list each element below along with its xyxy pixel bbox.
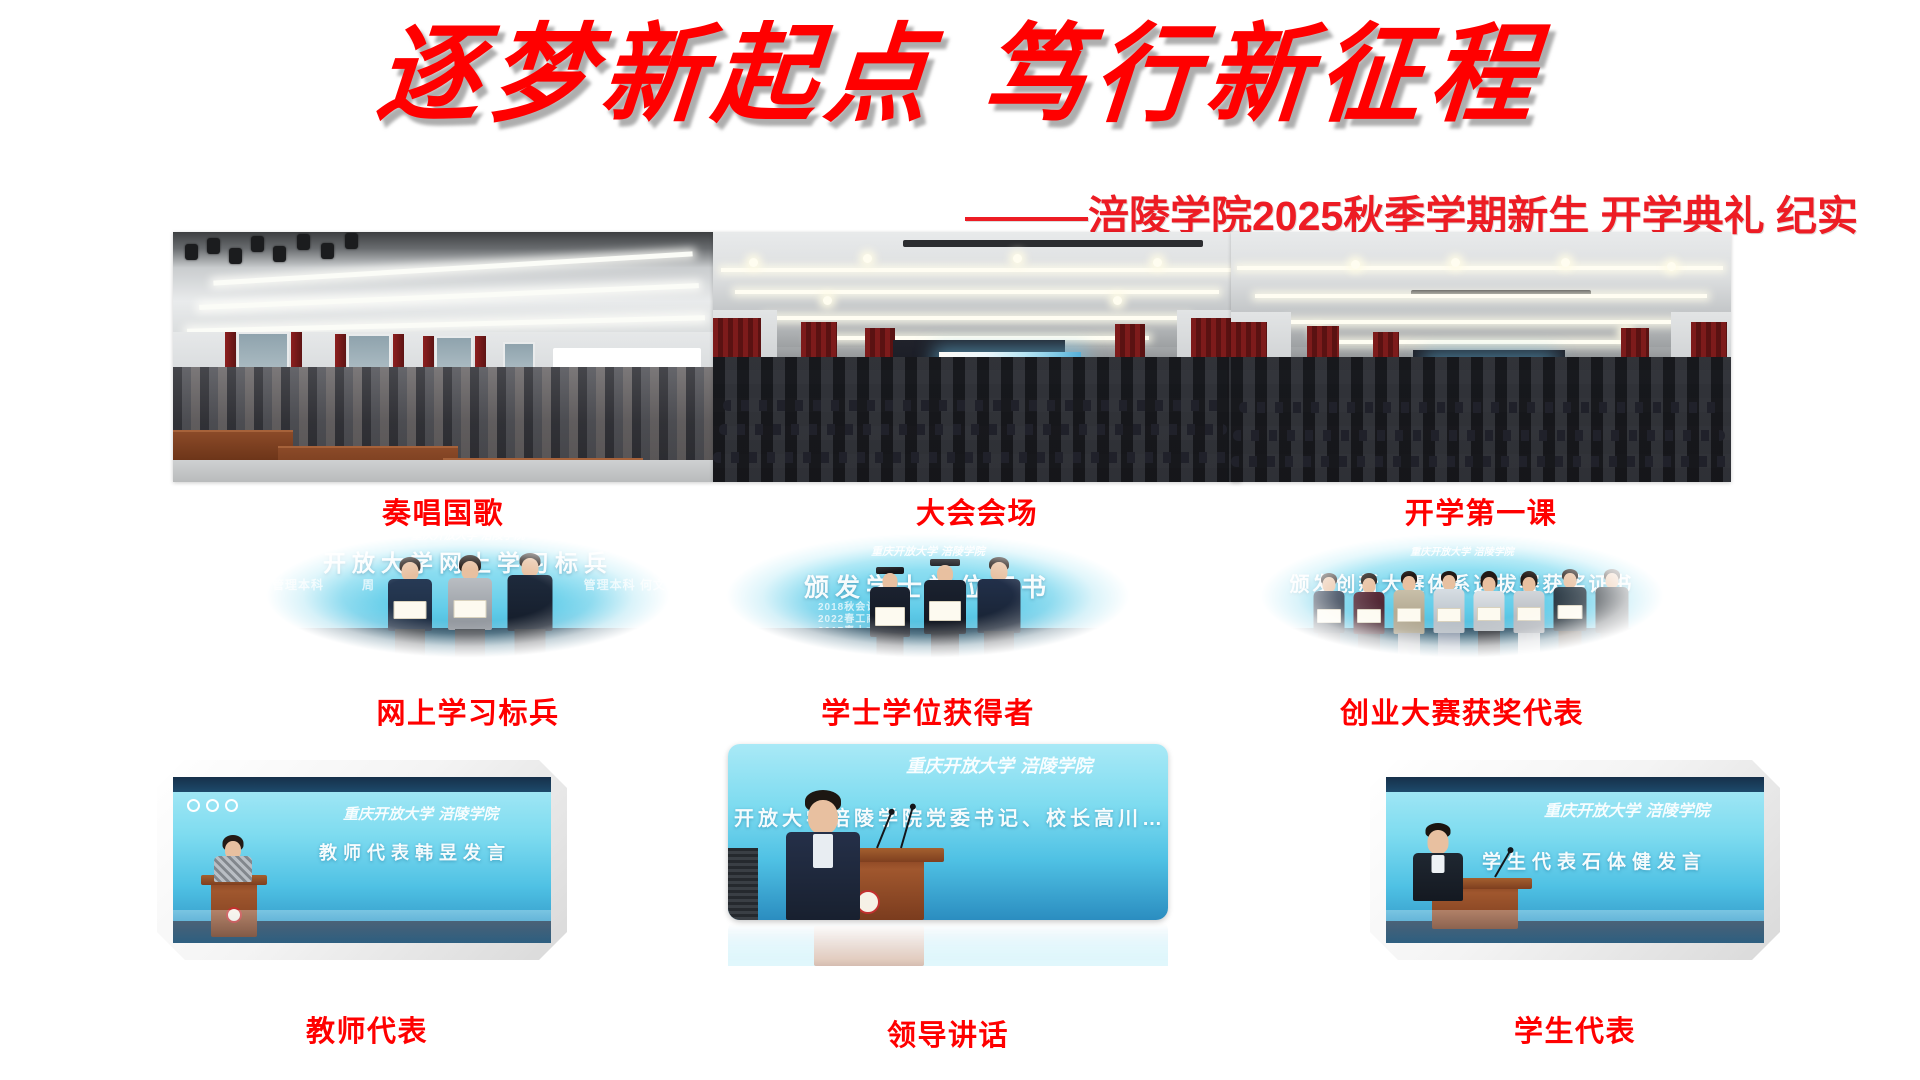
screen-subtext: 管理本科 何文	[584, 576, 666, 593]
legs	[1318, 633, 1340, 663]
presenter	[1594, 571, 1630, 663]
head	[1363, 578, 1376, 593]
certificate	[1357, 609, 1381, 623]
stage-light	[207, 238, 220, 254]
downlight	[863, 254, 872, 263]
graduate	[868, 567, 912, 663]
certificate	[1317, 609, 1341, 623]
auditorium-scene	[173, 232, 713, 482]
downlight	[823, 296, 832, 305]
certificate	[1397, 608, 1421, 622]
torso	[508, 575, 553, 631]
screen-logo: 重庆开放大学 涪陵学院	[871, 546, 985, 558]
speaker	[213, 837, 253, 881]
legs	[1398, 633, 1420, 663]
cove-light	[721, 268, 1231, 272]
screen-top-band	[173, 777, 551, 792]
photo-caption: 教师代表	[157, 1008, 577, 1050]
downlight	[1013, 254, 1022, 263]
screen-text: 教师代表韩昱发言	[319, 839, 511, 865]
stage-light	[185, 244, 198, 260]
head	[808, 800, 838, 834]
seated-audience	[713, 357, 1241, 482]
torso	[214, 856, 252, 882]
auditorium-wide-scene	[713, 232, 1241, 482]
audience-heads	[1239, 402, 1719, 413]
bachelor-degree-photo[interactable]: 重庆开放大学 涪陵学院 颁发学士学位证书 2018秋会计学5班 2022春工商管…	[718, 528, 1138, 663]
audience-heads	[1233, 430, 1725, 441]
podium-speech-scene: 重庆开放大学 涪陵学院 开放大学涪陵学院党委书记、校长高川…	[728, 744, 1168, 920]
header: 逐梦新起点 笃行新征程 ———涪陵学院2025秋季学期新生 开学典礼 纪实	[0, 0, 1920, 222]
podium-speech-scene: 重庆开放大学 涪陵学院 学生代表石体健发言	[1386, 777, 1764, 943]
photo-caption: 领导讲话	[728, 1012, 1168, 1054]
downlight	[749, 258, 758, 267]
diploma	[929, 601, 961, 621]
startup-contest-winners-photo[interactable]: 重庆开放大学 涪陵学院 颁发创新大赛体系选拔赛获奖证书	[1252, 528, 1672, 663]
presenter	[976, 559, 1022, 663]
photo-caption: 开学第一课	[1231, 490, 1731, 532]
certificate	[1437, 608, 1461, 622]
certificate	[1477, 607, 1501, 621]
awards-row: 重庆开放大学 涪陵学院 开放大学网上学习标兵 管理本科 周 管理本科 何文	[0, 528, 1920, 728]
stage-light	[297, 234, 310, 250]
head	[1483, 577, 1496, 592]
shirt	[1432, 855, 1445, 873]
teacher-representative-photo[interactable]: 重庆开放大学 涪陵学院 教师代表韩昱发言	[157, 760, 567, 960]
logo-badge	[187, 799, 200, 812]
cove-light	[1237, 266, 1723, 270]
stage-reflection	[1386, 910, 1764, 943]
screen-logo: 重庆开放大学 涪陵学院	[343, 807, 498, 823]
screen-logo: 重庆开放大学 涪陵学院	[411, 530, 525, 542]
page-title: 逐梦新起点 笃行新征程	[0, 12, 1920, 138]
audience-heads	[723, 400, 1223, 411]
downlight	[1351, 260, 1360, 269]
floor	[173, 460, 713, 483]
photo-caption: 学士学位获得者	[718, 690, 1138, 732]
photo-caption: 学生代表	[1370, 1008, 1780, 1050]
award-stage-scene: 重庆开放大学 涪陵学院 开放大学网上学习标兵 管理本科 周 管理本科 何文	[258, 528, 678, 663]
student-representative-photo[interactable]: 重庆开放大学 涪陵学院 学生代表石体健发言	[1370, 760, 1780, 960]
cove-light	[765, 316, 1189, 320]
legs	[877, 633, 904, 663]
speeches-row: 重庆开放大学 涪陵学院 教师代表韩昱发言 教师代表	[0, 760, 1920, 1060]
head	[1443, 575, 1456, 590]
podium-reflection	[814, 926, 924, 966]
stage-light	[321, 243, 334, 259]
stage-light	[229, 248, 242, 264]
photo-caption: 大会会场	[713, 490, 1241, 532]
head	[1428, 830, 1449, 854]
legs	[1601, 633, 1624, 663]
legs	[1518, 633, 1540, 663]
audience-heads	[1231, 456, 1731, 467]
ceremony-overview-row: 奏唱国歌	[0, 232, 1920, 492]
stage-reflection	[173, 910, 551, 943]
ceiling-vent	[903, 240, 1203, 247]
photo-caption: 网上学习标兵	[258, 690, 678, 732]
cove-light	[1255, 294, 1707, 298]
first-lesson-photo[interactable]	[1231, 232, 1731, 482]
podium-speech-scene-reflection	[728, 920, 1168, 966]
legs	[1559, 631, 1582, 663]
speaker	[1412, 825, 1464, 899]
awardee	[386, 559, 434, 663]
awardee	[1552, 571, 1588, 663]
downlight	[1561, 258, 1570, 267]
audience-heads	[713, 452, 1233, 463]
awardee	[1312, 575, 1346, 663]
screen-text: 学生代表石体健发言	[1482, 847, 1707, 874]
awardee	[1392, 573, 1426, 663]
shirt	[813, 834, 833, 868]
diploma	[875, 607, 905, 626]
audience-heads	[719, 424, 1227, 435]
legs	[515, 629, 546, 663]
legs	[455, 629, 485, 663]
downlight	[1153, 258, 1162, 267]
certificate	[454, 600, 487, 618]
legs	[931, 631, 959, 663]
stage-light	[273, 246, 286, 262]
award-stage-scene: 重庆开放大学 涪陵学院 颁发学士学位证书 2018秋会计学5班 2022春工商管…	[718, 528, 1138, 663]
torso	[978, 579, 1021, 633]
awardee	[1512, 573, 1546, 663]
torso	[1596, 587, 1629, 633]
certificate	[394, 601, 427, 619]
logo-badge	[225, 799, 238, 812]
legs	[984, 631, 1014, 663]
legs	[1358, 634, 1380, 663]
auditorium-wide-scene	[1231, 232, 1731, 482]
legs	[1478, 631, 1500, 663]
stage-light	[251, 236, 264, 252]
head	[1523, 577, 1536, 592]
awardee	[1432, 573, 1466, 663]
head	[1564, 573, 1577, 588]
assembly-hall-photo[interactable]	[713, 232, 1241, 482]
photo-caption: 创业大赛获奖代表	[1252, 690, 1672, 732]
front-desk	[173, 430, 293, 460]
podium-speech-scene: 重庆开放大学 涪陵学院 教师代表韩昱发言	[173, 777, 551, 943]
screen-logo: 重庆开放大学 涪陵学院	[1410, 548, 1513, 559]
graduate	[922, 559, 968, 663]
screen-logo: 重庆开放大学 涪陵学院	[1544, 803, 1710, 820]
downlight	[1451, 258, 1460, 267]
awardee	[446, 557, 494, 663]
legs	[395, 629, 425, 663]
screen-subtext: 周	[362, 576, 375, 593]
screen-top-band	[1386, 777, 1764, 792]
stage-light	[345, 233, 358, 249]
certificate	[1517, 607, 1541, 621]
downlight	[1667, 262, 1676, 271]
logo-badge	[206, 799, 219, 812]
broadcast-logos	[187, 799, 238, 812]
national-anthem-photo[interactable]	[173, 232, 713, 482]
screen-logo: 重庆开放大学 涪陵学院	[906, 758, 1092, 777]
speaker-cabinet	[728, 848, 758, 920]
online-study-model-photo[interactable]: 重庆开放大学 涪陵学院 开放大学网上学习标兵 管理本科 周 管理本科 何文	[258, 528, 678, 663]
legs	[1438, 633, 1460, 663]
presenter	[506, 555, 554, 663]
cove-light	[735, 290, 1219, 294]
screen-subtext: 管理本科	[272, 576, 324, 593]
head	[1606, 573, 1619, 588]
cove-light	[1287, 320, 1675, 324]
photo-caption: 奏唱国歌	[173, 490, 713, 532]
awardee	[1472, 573, 1506, 663]
award-stage-scene: 重庆开放大学 涪陵学院 颁发创新大赛体系选拔赛获奖证书	[1252, 528, 1672, 663]
head	[1323, 577, 1336, 592]
certificate	[1558, 605, 1583, 619]
head	[1403, 576, 1416, 591]
downlight	[1113, 296, 1122, 305]
awardee	[1352, 575, 1386, 663]
photo-reflection	[728, 920, 1168, 966]
leader-speech-photo[interactable]: 重庆开放大学 涪陵学院 开放大学涪陵学院党委书记、校长高川…	[728, 744, 1168, 974]
speaker	[784, 792, 862, 920]
